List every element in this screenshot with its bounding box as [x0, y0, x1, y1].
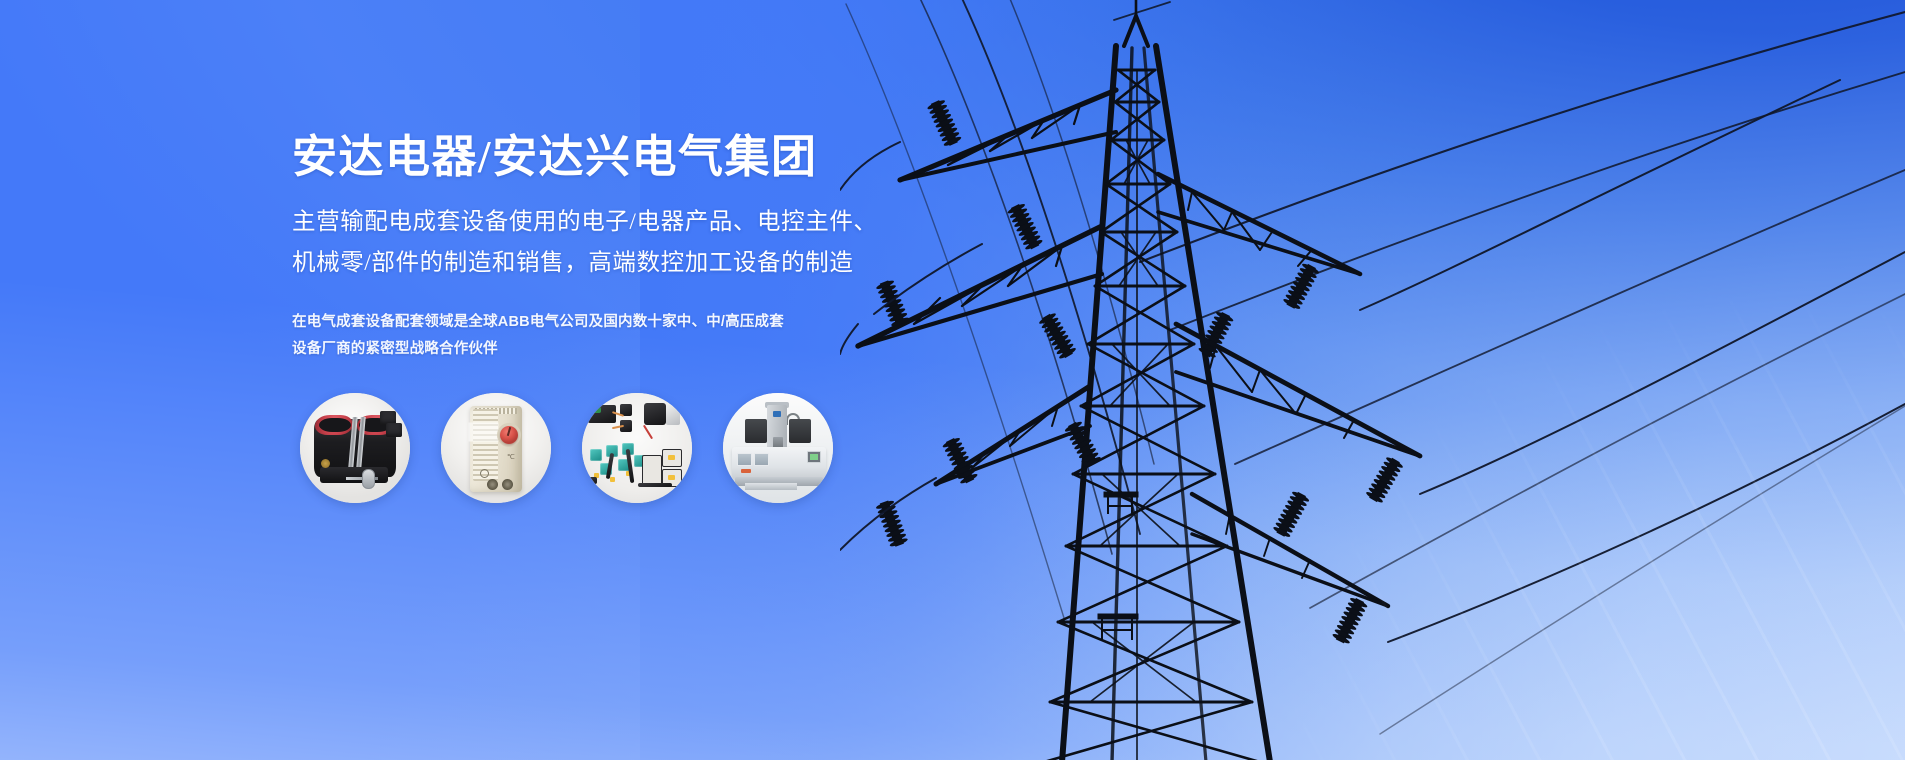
electronic-components-icon	[582, 393, 692, 503]
thumb-split-current-transformer[interactable]	[300, 393, 410, 503]
banner-description-line-2: 设备厂商的紧密型战略合作伙伴	[292, 336, 932, 362]
power-pylon-icon	[840, 0, 1905, 760]
cnc-machining-center-icon	[723, 393, 833, 503]
banner-description: 在电气成套设备配套领域是全球ABB电气公司及国内数十家中、中/高压成套 设备厂商…	[292, 309, 932, 362]
banner-subtitle-line-1: 主营输配电成套设备使用的电子/电器产品、电控主件、	[292, 202, 932, 242]
panel-thermostat-icon: ℃	[441, 393, 551, 503]
thumb-cnc-machining-center[interactable]	[723, 393, 833, 503]
thumb-electronic-components[interactable]	[582, 393, 692, 503]
banner-copy: 安达电器/安达兴电气集团 主营输配电成套设备使用的电子/电器产品、电控主件、 机…	[292, 132, 932, 362]
thermostat-unit-label: ℃	[507, 453, 515, 461]
product-thumbnail-row: ℃	[300, 393, 833, 503]
thumb-panel-thermostat[interactable]: ℃	[441, 393, 551, 503]
banner-description-line-1: 在电气成套设备配套领域是全球ABB电气公司及国内数十家中、中/高压成套	[292, 309, 932, 335]
banner-subtitle-line-2: 机械零/部件的制造和销售，高端数控加工设备的制造	[292, 243, 932, 283]
page-title: 安达电器/安达兴电气集团	[292, 132, 932, 182]
hero-banner: 安达电器/安达兴电气集团 主营输配电成套设备使用的电子/电器产品、电控主件、 机…	[0, 0, 1905, 760]
split-current-transformer-icon	[300, 393, 410, 503]
